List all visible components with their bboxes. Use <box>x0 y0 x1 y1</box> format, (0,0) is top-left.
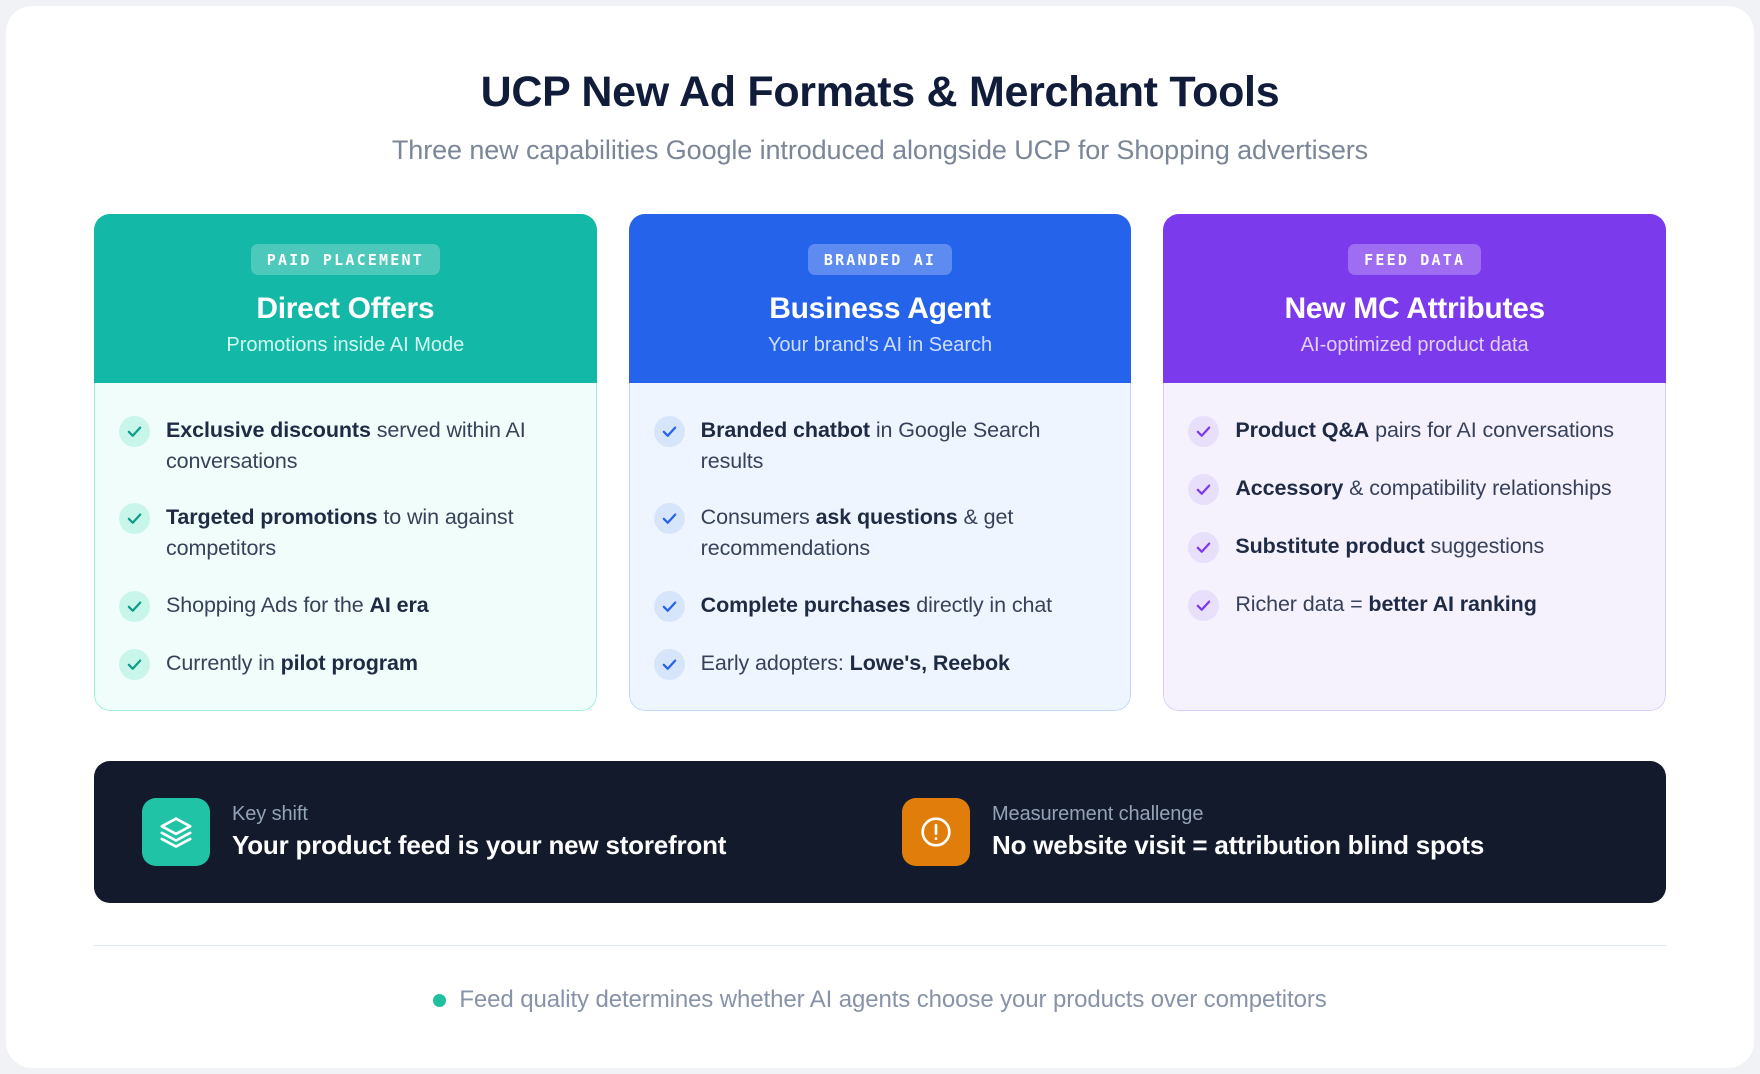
layers-icon <box>142 798 210 866</box>
card-title: Direct Offers <box>112 292 579 326</box>
card-title: Business Agent <box>647 292 1114 326</box>
footer-divider <box>94 945 1666 947</box>
card-subtitle: AI-optimized product data <box>1181 334 1648 357</box>
check-icon <box>119 649 150 680</box>
check-icon <box>654 416 685 447</box>
key-insight-label: Measurement challenge <box>992 803 1484 826</box>
key-insight-text: Measurement challengeNo website visit = … <box>992 803 1484 861</box>
bullet-dot-icon <box>433 994 446 1007</box>
feature-text: Consumers ask questions & get recommenda… <box>701 502 1105 563</box>
feature-text: Product Q&A pairs for AI conversations <box>1235 415 1614 446</box>
card-subtitle: Promotions inside AI Mode <box>112 334 579 357</box>
check-icon <box>654 591 685 622</box>
card-badge: FEED DATA <box>1348 244 1481 275</box>
page-subtitle: Three new capabilities Google introduced… <box>6 135 1754 166</box>
footer-note: Feed quality determines whether AI agent… <box>6 986 1754 1014</box>
feature-card: FEED DATANew MC AttributesAI-optimized p… <box>1163 214 1666 710</box>
check-icon <box>119 591 150 622</box>
feature-text: Accessory & compatibility relationships <box>1235 473 1611 504</box>
check-icon <box>119 416 150 447</box>
feature-card: BRANDED AIBusiness AgentYour brand's AI … <box>629 214 1132 710</box>
feature-item: Branded chatbot in Google Search results <box>654 415 1105 476</box>
card-header: FEED DATANew MC AttributesAI-optimized p… <box>1163 214 1666 383</box>
card-badge: PAID PLACEMENT <box>251 244 440 275</box>
feature-text: Complete purchases directly in chat <box>701 590 1052 621</box>
check-icon <box>1188 416 1219 447</box>
page-title: UCP New Ad Formats & Merchant Tools <box>6 68 1754 117</box>
check-icon <box>1188 532 1219 563</box>
check-icon <box>654 649 685 680</box>
feature-item: Early adopters: Lowe's, Reebok <box>654 648 1105 680</box>
feature-text: Substitute product suggestions <box>1235 531 1544 562</box>
feature-item: Consumers ask questions & get recommenda… <box>654 502 1105 563</box>
footer-text: Feed quality determines whether AI agent… <box>459 986 1326 1014</box>
feature-text: Branded chatbot in Google Search results <box>701 415 1105 476</box>
card-header: PAID PLACEMENTDirect OffersPromotions in… <box>94 214 597 383</box>
check-icon <box>119 503 150 534</box>
feature-item: Accessory & compatibility relationships <box>1188 473 1639 505</box>
key-insight-item: Measurement challengeNo website visit = … <box>902 798 1484 866</box>
card-header: BRANDED AIBusiness AgentYour brand's AI … <box>629 214 1132 383</box>
feature-text: Exclusive discounts served within AI con… <box>166 415 570 476</box>
card-feature-list: Product Q&A pairs for AI conversationsAc… <box>1163 383 1666 710</box>
feature-text: Targeted promotions to win against compe… <box>166 502 570 563</box>
key-insight-label: Key shift <box>232 803 726 826</box>
card-badge: BRANDED AI <box>808 244 952 275</box>
alert-circle-icon <box>902 798 970 866</box>
feature-item: Currently in pilot program <box>119 648 570 680</box>
card-feature-list: Exclusive discounts served within AI con… <box>94 383 597 710</box>
infographic-page: UCP New Ad Formats & Merchant Tools Thre… <box>6 6 1754 1068</box>
feature-item: Targeted promotions to win against compe… <box>119 502 570 563</box>
feature-item: Shopping Ads for the AI era <box>119 590 570 622</box>
feature-text: Currently in pilot program <box>166 648 418 679</box>
feature-item: Exclusive discounts served within AI con… <box>119 415 570 476</box>
feature-text: Shopping Ads for the AI era <box>166 590 429 621</box>
feature-item: Richer data = better AI ranking <box>1188 589 1639 621</box>
feature-text: Early adopters: Lowe's, Reebok <box>701 648 1010 679</box>
card-subtitle: Your brand's AI in Search <box>647 334 1114 357</box>
feature-item: Substitute product suggestions <box>1188 531 1639 563</box>
page-header: UCP New Ad Formats & Merchant Tools Thre… <box>6 6 1754 166</box>
feature-item: Complete purchases directly in chat <box>654 590 1105 622</box>
check-icon <box>1188 590 1219 621</box>
card-feature-list: Branded chatbot in Google Search results… <box>629 383 1132 710</box>
key-insight-item: Key shiftYour product feed is your new s… <box>142 798 902 866</box>
feature-text: Richer data = better AI ranking <box>1235 589 1536 620</box>
check-icon <box>1188 474 1219 505</box>
key-insights-bar: Key shiftYour product feed is your new s… <box>94 761 1666 903</box>
key-insight-value: No website visit = attribution blind spo… <box>992 830 1484 861</box>
card-grid: PAID PLACEMENTDirect OffersPromotions in… <box>6 214 1754 710</box>
feature-card: PAID PLACEMENTDirect OffersPromotions in… <box>94 214 597 710</box>
key-insight-text: Key shiftYour product feed is your new s… <box>232 803 726 861</box>
feature-item: Product Q&A pairs for AI conversations <box>1188 415 1639 447</box>
check-icon <box>654 503 685 534</box>
key-insight-value: Your product feed is your new storefront <box>232 830 726 861</box>
card-title: New MC Attributes <box>1181 292 1648 326</box>
